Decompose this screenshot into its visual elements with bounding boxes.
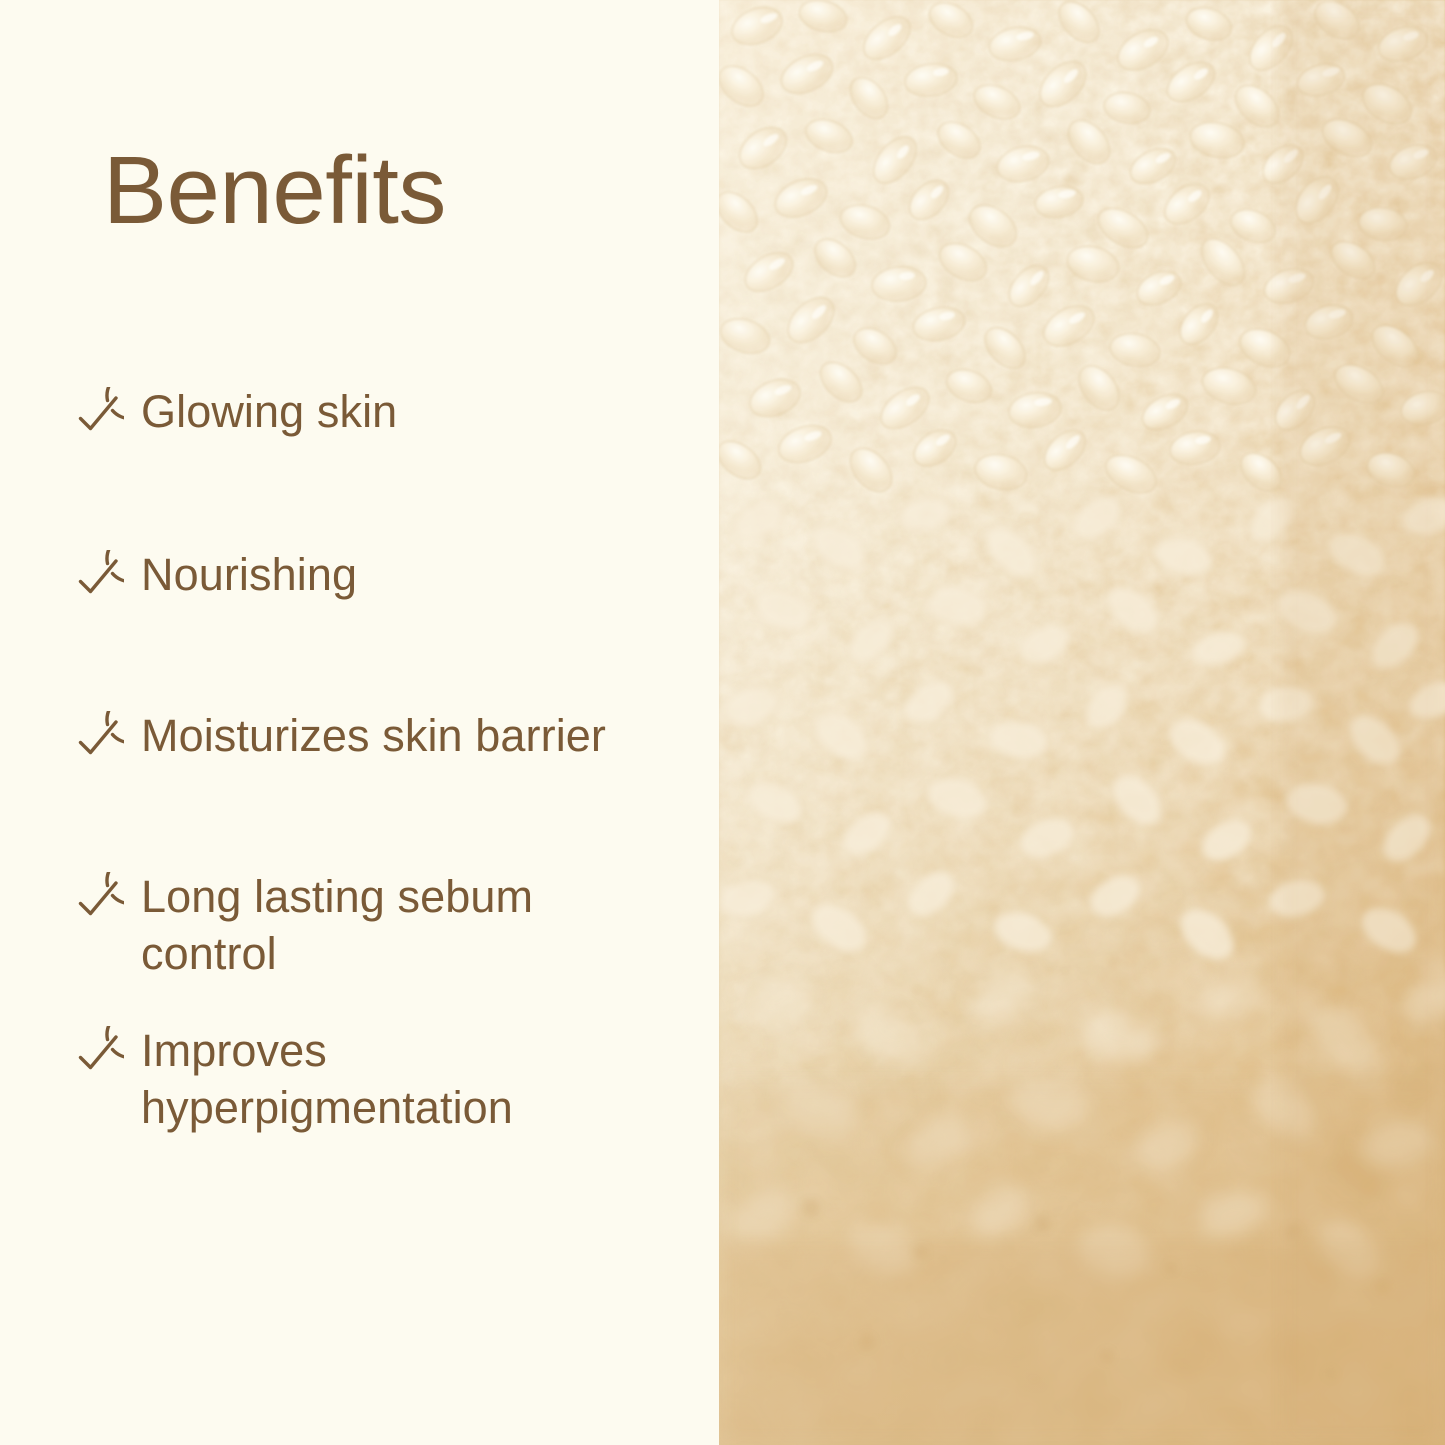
list-item-label: Moisturizes skin barrier xyxy=(124,705,606,764)
list-item-label: Glowing skin xyxy=(124,381,397,440)
check-circle-icon xyxy=(62,872,124,934)
list-item-label: Improves hyperpigmentation xyxy=(124,1020,511,1136)
list-item: Long lasting sebum control xyxy=(62,866,702,982)
list-item: Glowing skin xyxy=(62,381,702,449)
benefits-list: Glowing skin Nourishing xyxy=(62,381,702,1137)
list-item-label: Long lasting sebum control xyxy=(124,866,611,982)
list-item: Improves hyperpigmentation xyxy=(62,1020,702,1136)
list-item: Moisturizes skin barrier xyxy=(62,705,702,773)
check-circle-icon xyxy=(62,387,124,449)
list-item-label: Nourishing xyxy=(124,544,357,603)
product-benefits-card: Benefits Glowing skin N xyxy=(0,0,1445,1445)
benefits-panel: Benefits Glowing skin N xyxy=(0,0,719,1445)
check-circle-icon xyxy=(62,711,124,773)
check-circle-icon xyxy=(62,1026,124,1088)
list-item: Nourishing xyxy=(62,544,702,612)
check-circle-icon xyxy=(62,550,124,612)
rice-ferment-macro-photo xyxy=(719,0,1445,1445)
page-title: Benefits xyxy=(103,143,446,239)
